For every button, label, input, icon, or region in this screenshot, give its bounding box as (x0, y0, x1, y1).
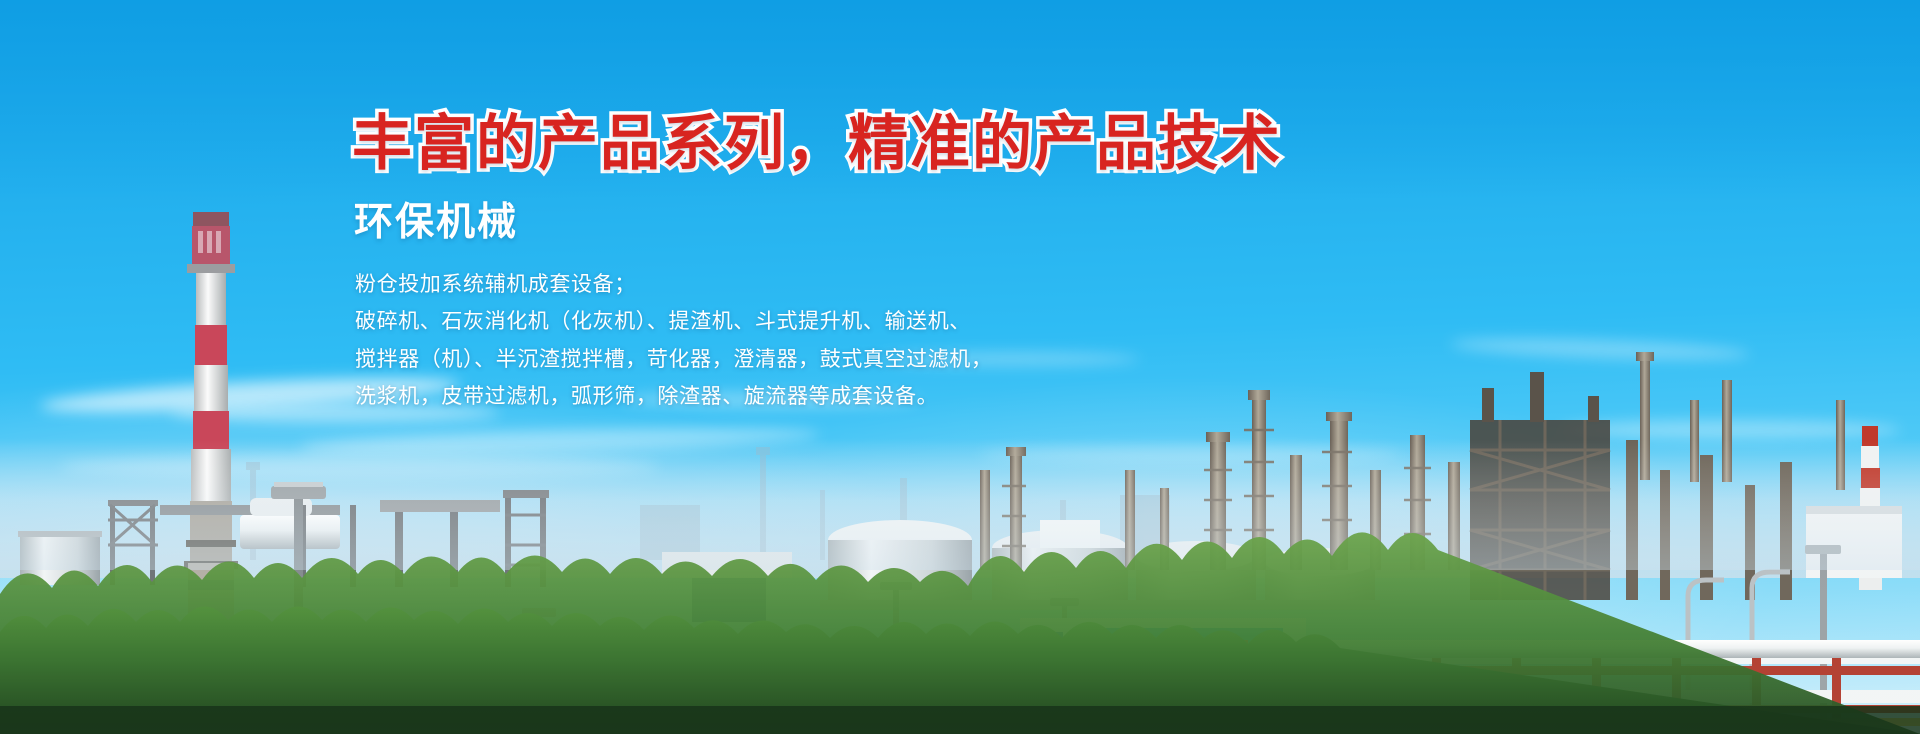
description-line: 破碎机、石灰消化机（化灰机）、提渣机、斗式提升机、输送机、 (355, 306, 1452, 336)
description-line: 粉仓投加系统辅机成套设备； (355, 269, 1452, 299)
description-line: 搅拌器（机）、半沉渣搅拌槽，苛化器，澄清器，鼓式真空过滤机， (355, 344, 1452, 374)
tree-line (0, 474, 1920, 734)
page-title: 丰富的产品系列，精准的产品技术 (352, 112, 1452, 177)
description-line: 洗浆机，皮带过滤机，弧形筛，除渣器、旋流器等成套设备。 (355, 381, 1452, 411)
banner-copy: 丰富的产品系列，精准的产品技术 环保机械 粉仓投加系统辅机成套设备； 破碎机、石… (352, 112, 1452, 419)
banner-subtitle: 环保机械 (354, 191, 1452, 247)
hero-banner: 丰富的产品系列，精准的产品技术 环保机械 粉仓投加系统辅机成套设备； 破碎机、石… (0, 0, 1920, 734)
banner-description: 粉仓投加系统辅机成套设备； 破碎机、石灰消化机（化灰机）、提渣机、斗式提升机、输… (355, 269, 1452, 412)
